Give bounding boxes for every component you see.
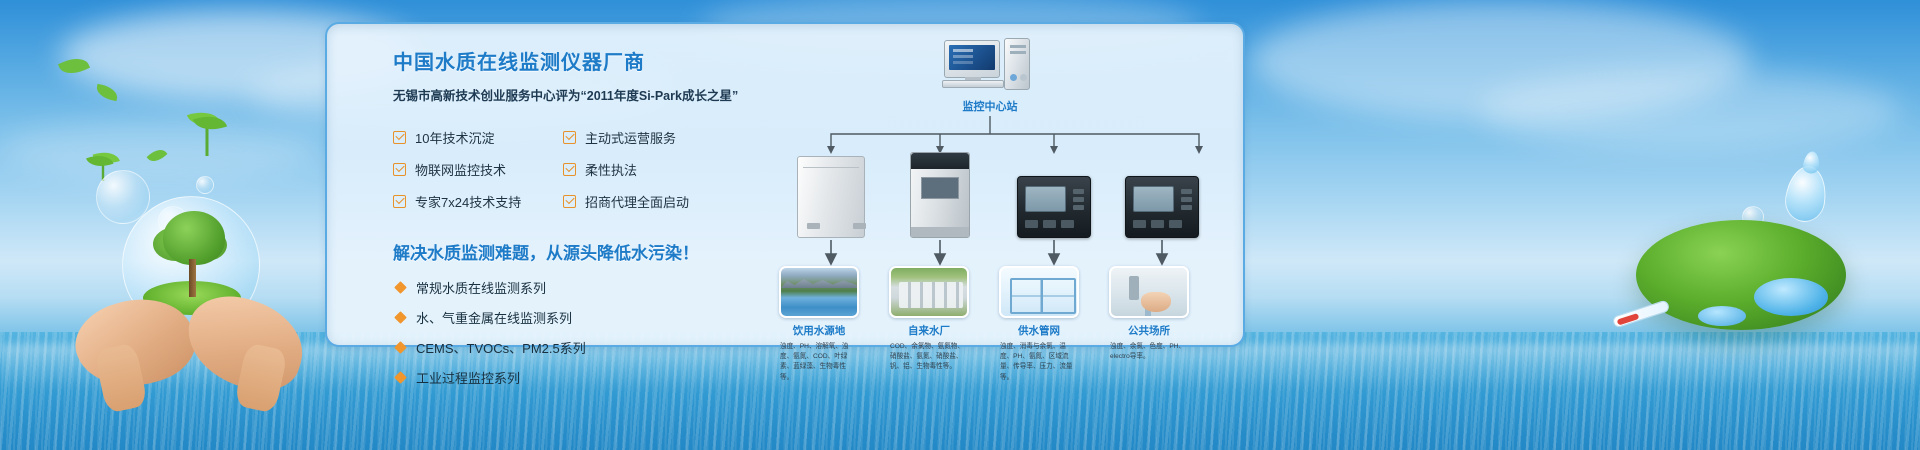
scene-photo-water-plant <box>889 266 969 318</box>
checkbox-icon <box>393 163 406 176</box>
feature-label: 物联网监控技术 <box>415 160 506 179</box>
keyboard-icon <box>942 80 1004 88</box>
green-earth <box>1636 220 1846 330</box>
product-label: 常规水质在线监测系列 <box>416 278 546 297</box>
diamond-bullet-icon <box>394 281 407 294</box>
feature-label: 柔性执法 <box>585 160 637 179</box>
cloud-decoration <box>1480 70 1900 150</box>
diamond-bullet-icon <box>394 371 407 384</box>
scene-description: 浊度、余氯、色度、PH、electro导率。 <box>1109 342 1189 362</box>
scene-title: 自来水厂 <box>889 323 969 338</box>
scene-description: COD、余氯物、氨氮物、硝酸盐、氨氮、硝酸盐、钒、铝、生物毒性等。 <box>889 342 969 373</box>
checkbox-icon <box>563 163 576 176</box>
diamond-bullet-icon <box>394 341 407 354</box>
scene-card: 供水管网 浊度、消毒与余氯、温度、PH、氨氮、区域流量、传导率、压力、流量等。 <box>999 266 1079 383</box>
feature-item: 10年技术沉淀 <box>393 128 563 147</box>
leaf-icon <box>147 146 168 166</box>
feature-label: 主动式运营服务 <box>585 128 676 147</box>
feature-item: 主动式运营服务 <box>563 128 733 147</box>
product-list: 常规水质在线监测系列 水、气重金属在线监测系列 CEMS、TVOCs、PM2.5… <box>393 278 753 387</box>
monitoring-center-computer <box>944 38 1036 94</box>
list-item: CEMS、TVOCs、PM2.5系列 <box>393 338 753 357</box>
feature-item: 招商代理全面启动 <box>563 192 733 211</box>
pc-tower-icon <box>1004 38 1030 90</box>
feature-label: 招商代理全面启动 <box>585 192 689 211</box>
leaf-icon <box>95 84 119 101</box>
scene-description: 浊度、PH、溶解氧、浊度、氨氮、COD、叶绿素、蓝绿藻、生物毒性等。 <box>779 342 859 383</box>
list-item: 工业过程监控系列 <box>393 368 753 387</box>
scene-photo-drinking-water-source <box>779 266 859 318</box>
scene-card: 公共场所 浊度、余氯、色度、PH、electro导率。 <box>1109 266 1189 362</box>
page-title: 中国水质在线监测仪器厂商 <box>393 46 753 75</box>
checkbox-icon <box>563 195 576 208</box>
device-cabinet-1 <box>797 156 865 238</box>
earth-lake <box>1698 306 1746 326</box>
diamond-bullet-icon <box>394 311 407 324</box>
panel-text-column: 中国水质在线监测仪器厂商 无锡市高新技术创业服务中心评为“2011年度Si-Pa… <box>393 46 753 398</box>
list-item: 常规水质在线监测系列 <box>393 278 753 297</box>
product-label: 工业过程监控系列 <box>416 368 520 387</box>
checkbox-icon <box>563 131 576 144</box>
earth-lake <box>1754 278 1828 316</box>
device-cabinet-2 <box>910 152 970 238</box>
feature-label: 10年技术沉淀 <box>415 128 494 147</box>
scene-title: 饮用水源地 <box>779 323 859 338</box>
device-analyzer-2 <box>1125 176 1199 238</box>
leaf-icon <box>58 53 90 79</box>
checkbox-icon <box>393 195 406 208</box>
section-title: 解决水质监测难题，从源头降低水污染！ <box>393 239 753 264</box>
feature-label: 专家7x24技术支持 <box>415 192 521 211</box>
feature-item: 柔性执法 <box>563 160 733 179</box>
scene-row: 饮用水源地 浊度、PH、溶解氧、浊度、氨氮、COD、叶绿素、蓝绿藻、生物毒性等。… <box>767 266 1217 336</box>
scene-photo-water-network <box>999 266 1079 318</box>
hands-holding-tree-illustration <box>70 196 310 396</box>
tree-foliage <box>163 211 225 265</box>
scene-description: 浊度、消毒与余氯、温度、PH、氨氮、区域流量、传导率、压力、流量等。 <box>999 342 1079 383</box>
feature-item: 物联网监控技术 <box>393 160 563 179</box>
scene-card: 饮用水源地 浊度、PH、溶解氧、浊度、氨氮、COD、叶绿素、蓝绿藻、生物毒性等。 <box>779 266 859 383</box>
cloud-decoration <box>1250 0 1750 120</box>
checkbox-icon <box>393 131 406 144</box>
earth-water-illustration <box>1600 190 1900 380</box>
thermometer-icon <box>1612 299 1671 328</box>
scene-card: 自来水厂 COD、余氯物、氨氮物、硝酸盐、氨氮、硝酸盐、钒、铝、生物毒性等。 <box>889 266 969 373</box>
monitor-icon <box>944 40 1000 78</box>
system-diagram: 监控中心站 <box>767 38 1217 338</box>
water-droplet-icon <box>1782 163 1829 224</box>
scene-photo-public-place <box>1109 266 1189 318</box>
sprout-icon <box>175 108 239 156</box>
device-analyzer-1 <box>1017 176 1091 238</box>
list-item: 水、气重金属在线监测系列 <box>393 308 753 327</box>
page-subtitle: 无锡市高新技术创业服务中心评为“2011年度Si-Park成长之星” <box>393 85 753 104</box>
bubble-decoration <box>196 176 214 194</box>
tree-trunk <box>189 259 196 297</box>
product-label: CEMS、TVOCs、PM2.5系列 <box>416 338 586 357</box>
feature-item: 专家7x24技术支持 <box>393 192 563 211</box>
device-row <box>767 148 1217 238</box>
scene-title: 公共场所 <box>1109 323 1189 338</box>
scene-title: 供水管网 <box>999 323 1079 338</box>
promo-panel: 中国水质在线监测仪器厂商 无锡市高新技术创业服务中心评为“2011年度Si-Pa… <box>325 22 1245 347</box>
product-label: 水、气重金属在线监测系列 <box>416 308 572 327</box>
center-station-label: 监控中心站 <box>917 98 1063 114</box>
feature-checklist: 10年技术沉淀 主动式运营服务 物联网监控技术 柔性执法 专家7x24技术支持 … <box>393 128 753 211</box>
